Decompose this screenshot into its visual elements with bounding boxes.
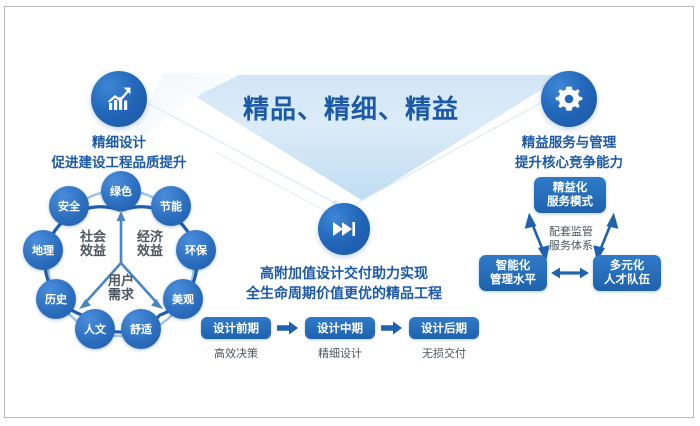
wheel-bubble-environment[interactable]: 环保 bbox=[176, 230, 216, 270]
process-step-2[interactable]: 设计中期 bbox=[305, 317, 375, 339]
center-section-caption: 高附加值设计交付助力实现 全生命周期价值更优的精品工程 bbox=[224, 263, 464, 304]
segment-economic-line1: 经济 bbox=[126, 230, 174, 244]
segment-social-line1: 社会 bbox=[69, 230, 117, 244]
right-caption-line1: 精益服务与管理 bbox=[479, 133, 659, 153]
right-diagram-bottom-left-box[interactable]: 智能化 管理水平 bbox=[479, 255, 547, 291]
process-step-3[interactable]: 设计后期 bbox=[409, 317, 479, 339]
process-step-2-subtitle: 精细设计 bbox=[305, 345, 375, 361]
right-br-line1: 多元化 bbox=[610, 259, 645, 273]
wheel-bubble-aesthetics[interactable]: 美观 bbox=[163, 279, 203, 319]
process-step-1[interactable]: 设计前期 bbox=[201, 317, 271, 339]
right-center-line1: 配套监管 bbox=[529, 225, 613, 239]
growth-chart-icon bbox=[91, 71, 147, 127]
wheel-bubble-safety[interactable]: 安全 bbox=[49, 186, 89, 226]
right-caption-line2: 提升核心竞争能力 bbox=[479, 153, 659, 173]
process-step-1-subtitle: 高效决策 bbox=[201, 345, 271, 361]
wheel-bubble-green[interactable]: 绿色 bbox=[101, 171, 141, 211]
wheel-segment-economic: 经济 效益 bbox=[126, 230, 174, 259]
wheel-bubble-culture[interactable]: 人文 bbox=[75, 309, 115, 349]
wheel-segment-user: 用户 需求 bbox=[97, 274, 145, 303]
value-wheel-diagram: 社会 效益 经济 效益 用户 需求 绿色 节能 环保 美观 舒适 人文 历史 地… bbox=[21, 175, 221, 351]
fast-forward-icon bbox=[318, 203, 370, 255]
right-diagram-top-box[interactable]: 精益化 服务模式 bbox=[534, 177, 606, 213]
wheel-segment-social: 社会 效益 bbox=[69, 230, 117, 259]
center-caption-line2: 全生命周期价值更优的精品工程 bbox=[224, 283, 464, 303]
segment-user-line2: 需求 bbox=[97, 288, 145, 302]
double-arrow-icon bbox=[551, 265, 589, 286]
wheel-bubble-history[interactable]: 历史 bbox=[36, 279, 76, 319]
gear-icon bbox=[541, 71, 597, 127]
right-arrow-icon-2 bbox=[381, 320, 403, 341]
process-step-3-subtitle: 无损交付 bbox=[409, 345, 479, 361]
right-arrow-icon bbox=[277, 320, 299, 341]
right-br-line2: 人才队伍 bbox=[604, 273, 650, 287]
right-center-line2: 服务体系 bbox=[529, 239, 613, 253]
right-diagram-bottom-right-box[interactable]: 多元化 人才队伍 bbox=[593, 255, 661, 291]
right-diagram-center-label: 配套监管 服务体系 bbox=[529, 225, 613, 254]
wheel-bubble-energy[interactable]: 节能 bbox=[151, 186, 191, 226]
segment-social-line2: 效益 bbox=[69, 244, 117, 258]
wheel-bubble-comfort[interactable]: 舒适 bbox=[121, 309, 161, 349]
wheel-bubble-geography[interactable]: 地理 bbox=[23, 230, 63, 270]
right-bl-line1: 智能化 bbox=[496, 259, 531, 273]
left-section-caption: 精细设计 促进建设工程品质提升 bbox=[19, 133, 219, 172]
right-top-line1: 精益化 bbox=[553, 181, 588, 195]
right-top-line2: 服务模式 bbox=[547, 195, 593, 209]
left-caption-line1: 精细设计 bbox=[19, 133, 219, 153]
segment-economic-line2: 效益 bbox=[126, 244, 174, 258]
segment-user-line1: 用户 bbox=[97, 274, 145, 288]
right-section-caption: 精益服务与管理 提升核心竞争能力 bbox=[479, 133, 659, 172]
center-caption-line1: 高附加值设计交付助力实现 bbox=[224, 263, 464, 283]
infographic-canvas: 精品、精细、精益 精细设计 促进建设工程品质提升 bbox=[0, 0, 700, 426]
left-caption-line2: 促进建设工程品质提升 bbox=[19, 153, 219, 173]
right-bl-line2: 管理水平 bbox=[490, 273, 536, 287]
slide-frame: 精品、精细、精益 精细设计 促进建设工程品质提升 bbox=[4, 6, 694, 418]
